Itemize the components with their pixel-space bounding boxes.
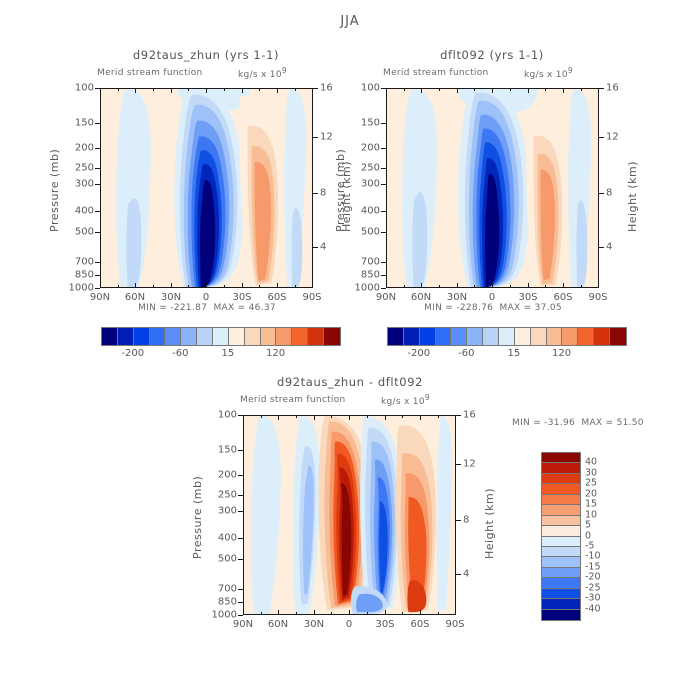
panel-top-left-minmax: MIN = -221.87 MAX = 46.37 bbox=[138, 303, 276, 313]
colorbar-tick-label: -5 bbox=[585, 540, 594, 551]
colorbar-tick-label: -60 bbox=[458, 348, 474, 359]
colorbar-swatch bbox=[542, 578, 580, 588]
colorbar-swatch bbox=[483, 328, 499, 345]
panel-top-left-variable-label: Merid stream function bbox=[97, 68, 203, 78]
colorbar-swatch bbox=[542, 484, 580, 494]
panel-top-right-units-label: kg/s x 109 bbox=[524, 66, 573, 80]
colorbar-swatch bbox=[261, 328, 277, 345]
panel-bottom-diff-title: d92taus_zhun - dflt092 bbox=[277, 375, 423, 389]
colorbar-tick-label: -15 bbox=[585, 561, 601, 572]
colorbar-swatch bbox=[578, 328, 594, 345]
panel-bottom-diff-plot bbox=[243, 415, 456, 615]
colorbar-tick-label: 25 bbox=[585, 478, 597, 489]
colorbar-tick-label: -20 bbox=[585, 572, 601, 583]
colorbar-tick-label: -40 bbox=[585, 603, 601, 614]
colorbar-swatch bbox=[542, 589, 580, 599]
colorbar-swatch bbox=[436, 328, 452, 345]
colorbar-swatch bbox=[420, 328, 436, 345]
colorbar-swatch bbox=[542, 599, 580, 609]
colorbar-swatch bbox=[181, 328, 197, 345]
colorbar-swatch bbox=[542, 453, 580, 463]
colorbar-swatch bbox=[542, 610, 580, 620]
colorbar-swatch bbox=[542, 505, 580, 515]
colorbar-tick-label: 120 bbox=[266, 348, 285, 359]
colorbar-swatch bbox=[594, 328, 610, 345]
colorbar-tick-label: -200 bbox=[121, 348, 144, 359]
colorbar-swatch bbox=[531, 328, 547, 345]
colorbar-tick-label: -60 bbox=[172, 348, 188, 359]
colorbar-swatch bbox=[515, 328, 531, 345]
colorbar-swatch bbox=[292, 328, 308, 345]
colorbar-swatch bbox=[245, 328, 261, 345]
panel-bottom-diff-variable-label: Merid stream function bbox=[240, 395, 346, 405]
colorbar-swatch bbox=[542, 537, 580, 547]
colorbar-swatch bbox=[451, 328, 467, 345]
colorbar-swatch bbox=[388, 328, 404, 345]
colorbar-swatch bbox=[499, 328, 515, 345]
colorbar-swatch bbox=[213, 328, 229, 345]
panel-top-right-ylabel-height: Height (km) bbox=[626, 161, 639, 232]
panel-top-left-contour-field bbox=[101, 89, 312, 287]
colorbar-tick-label: 0 bbox=[585, 530, 591, 541]
panel-bottom-diff-contour-field bbox=[244, 416, 455, 614]
colorbar-tick-label: 30 bbox=[585, 467, 597, 478]
colorbar-swatch bbox=[542, 495, 580, 505]
panel-top-right-variable-label: Merid stream function bbox=[383, 68, 489, 78]
colorbar-tick-label: 15 bbox=[585, 499, 597, 510]
panel-top-right-plot bbox=[386, 88, 599, 288]
panel-top-right-title: dflt092 (yrs 1-1) bbox=[440, 48, 544, 62]
panel-top-right-contour-field bbox=[387, 89, 598, 287]
panel-bottom-diff-ylabel-pressure: Pressure (mb) bbox=[191, 476, 204, 559]
panel-top-right-ylabel-pressure: Pressure (mb) bbox=[334, 149, 347, 232]
panel-top-left-title: d92taus_zhun (yrs 1-1) bbox=[133, 48, 279, 62]
panel-top-left-colorbar[interactable] bbox=[101, 327, 341, 346]
colorbar-tick-label: -200 bbox=[407, 348, 430, 359]
colorbar-swatch bbox=[547, 328, 563, 345]
colorbar-tick-label: -30 bbox=[585, 593, 601, 604]
panel-bottom-diff-colorbar[interactable] bbox=[541, 452, 581, 621]
colorbar-swatch bbox=[150, 328, 166, 345]
colorbar-swatch bbox=[165, 328, 181, 345]
colorbar-swatch bbox=[610, 328, 626, 345]
colorbar-swatch bbox=[102, 328, 118, 345]
colorbar-swatch bbox=[542, 557, 580, 567]
colorbar-swatch bbox=[308, 328, 324, 345]
season-title: JJA bbox=[340, 14, 359, 29]
colorbar-tick-label: -10 bbox=[585, 551, 601, 562]
colorbar-tick-label: 10 bbox=[585, 509, 597, 520]
panel-bottom-diff-minmax: MIN = -31.96 MAX = 51.50 bbox=[512, 418, 644, 428]
colorbar-swatch bbox=[118, 328, 134, 345]
panel-top-right-minmax: MIN = -228.76 MAX = 37.05 bbox=[424, 303, 562, 313]
colorbar-tick-label: 5 bbox=[585, 520, 591, 531]
colorbar-swatch bbox=[276, 328, 292, 345]
colorbar-swatch bbox=[229, 328, 245, 345]
panel-bottom-diff-ylabel-height: Height (km) bbox=[483, 488, 496, 559]
colorbar-tick-label: 20 bbox=[585, 488, 597, 499]
panel-top-left-plot bbox=[100, 88, 313, 288]
panel-top-right-colorbar[interactable] bbox=[387, 327, 627, 346]
colorbar-swatch bbox=[542, 463, 580, 473]
colorbar-swatch bbox=[542, 516, 580, 526]
panel-top-left-units-label: kg/s x 109 bbox=[238, 66, 287, 80]
colorbar-swatch bbox=[197, 328, 213, 345]
colorbar-swatch bbox=[562, 328, 578, 345]
colorbar-tick-label: 15 bbox=[222, 348, 235, 359]
colorbar-swatch bbox=[324, 328, 340, 345]
colorbar-tick-label: 15 bbox=[508, 348, 521, 359]
colorbar-swatch bbox=[542, 526, 580, 536]
colorbar-tick-label: -25 bbox=[585, 582, 601, 593]
colorbar-swatch bbox=[404, 328, 420, 345]
colorbar-swatch bbox=[467, 328, 483, 345]
colorbar-tick-label: 120 bbox=[552, 348, 571, 359]
panel-bottom-diff-units-label: kg/s x 109 bbox=[381, 393, 430, 407]
colorbar-swatch bbox=[542, 547, 580, 557]
colorbar-swatch bbox=[542, 474, 580, 484]
colorbar-swatch bbox=[134, 328, 150, 345]
panel-top-left-ylabel-pressure: Pressure (mb) bbox=[48, 149, 61, 232]
colorbar-tick-label: 40 bbox=[585, 457, 597, 468]
colorbar-swatch bbox=[542, 568, 580, 578]
